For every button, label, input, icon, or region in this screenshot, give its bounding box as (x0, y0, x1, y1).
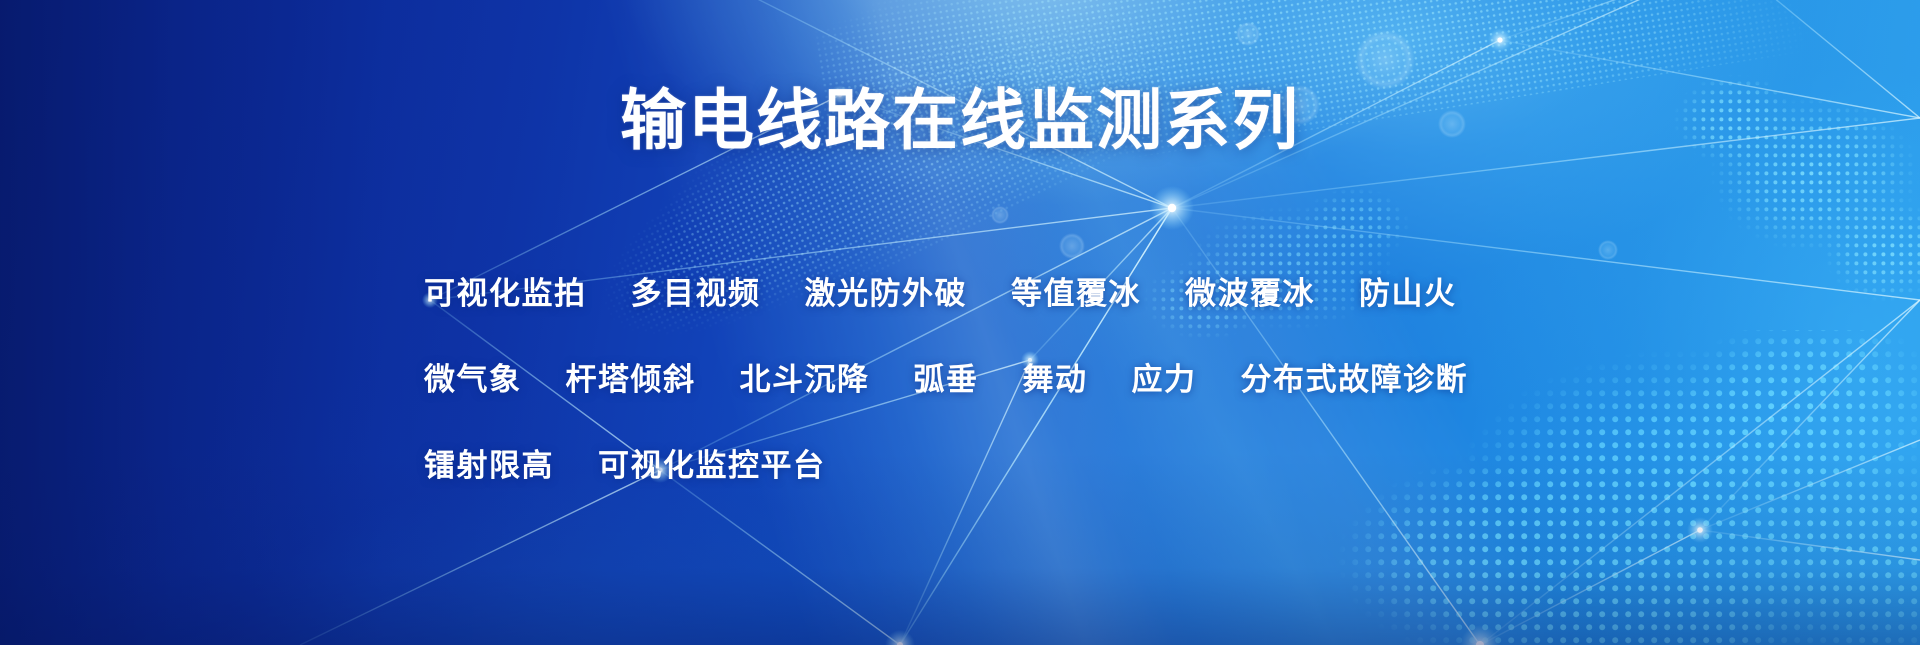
feature-tag-list: 可视化监拍 多目视频 激光防外破 等值覆冰 微波覆冰 防山火 微气象 杆塔倾斜 … (424, 250, 1604, 508)
feature-tag[interactable]: 激光防外破 (805, 278, 968, 309)
feature-tag-row: 镭射限高 可视化监控平台 (424, 422, 1604, 508)
banner-headline: 输电线路在线监测系列 (0, 86, 1920, 155)
feature-tag[interactable]: 弧垂 (914, 364, 979, 395)
feature-tag[interactable]: 杆塔倾斜 (566, 364, 696, 395)
feature-tag[interactable]: 镭射限高 (424, 450, 554, 481)
feature-tag[interactable]: 可视化监控平台 (598, 450, 826, 481)
feature-tag[interactable]: 可视化监拍 (424, 278, 587, 309)
feature-tag[interactable]: 北斗沉降 (740, 364, 870, 395)
feature-tag-row: 微气象 杆塔倾斜 北斗沉降 弧垂 舞动 应力 分布式故障诊断 (424, 336, 1604, 422)
feature-tag[interactable]: 分布式故障诊断 (1241, 364, 1469, 395)
promo-banner: 输电线路在线监测系列 可视化监拍 多目视频 激光防外破 等值覆冰 微波覆冰 防山… (0, 0, 1920, 645)
banner-content: 输电线路在线监测系列 可视化监拍 多目视频 激光防外破 等值覆冰 微波覆冰 防山… (0, 0, 1920, 645)
feature-tag[interactable]: 防山火 (1359, 278, 1457, 309)
feature-tag[interactable]: 应力 (1132, 364, 1197, 395)
feature-tag[interactable]: 微气象 (424, 364, 522, 395)
feature-tag[interactable]: 多目视频 (631, 278, 761, 309)
feature-tag[interactable]: 微波覆冰 (1185, 278, 1315, 309)
feature-tag-row: 可视化监拍 多目视频 激光防外破 等值覆冰 微波覆冰 防山火 (424, 250, 1604, 336)
feature-tag[interactable]: 舞动 (1023, 364, 1088, 395)
feature-tag[interactable]: 等值覆冰 (1011, 278, 1141, 309)
